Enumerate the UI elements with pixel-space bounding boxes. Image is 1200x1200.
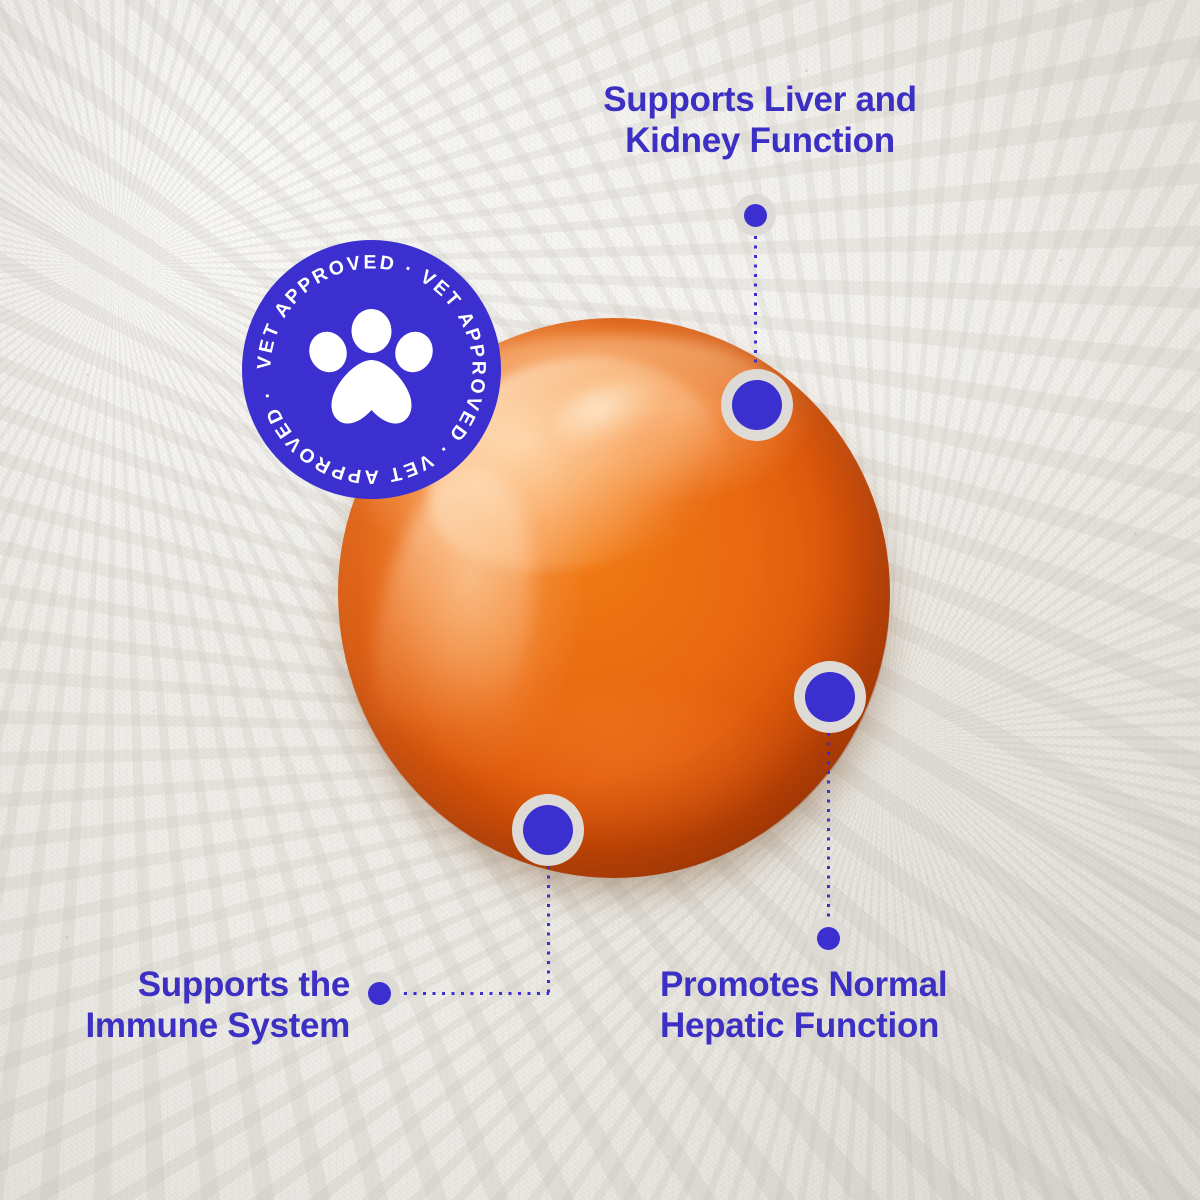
- marker-large-hepatic[interactable]: [794, 661, 866, 733]
- connector-line-immune-vertical: [547, 866, 550, 994]
- connector-line-hepatic: [827, 733, 830, 919]
- marker-small-immune[interactable]: [358, 972, 400, 1014]
- marker-small-liver-kidney[interactable]: [734, 194, 776, 236]
- connector-line-liver-kidney: [754, 236, 757, 371]
- callout-label-liver-kidney: Supports Liver and Kidney Function: [480, 80, 1040, 162]
- marker-small-hepatic[interactable]: [807, 917, 849, 959]
- marker-core: [805, 672, 855, 722]
- marker-large-immune[interactable]: [512, 794, 584, 866]
- marker-core: [744, 204, 767, 227]
- callout-label-hepatic: Promotes Normal Hepatic Function: [660, 965, 1180, 1047]
- paw-print-icon: [303, 308, 439, 424]
- marker-core: [732, 380, 782, 430]
- callout-label-immune: Supports the Immune System: [0, 965, 350, 1047]
- marker-core: [523, 805, 573, 855]
- marker-core: [368, 982, 391, 1005]
- marker-large-liver-kidney[interactable]: [721, 369, 793, 441]
- marker-core: [817, 927, 840, 950]
- vet-approved-badge: VET APPROVED · VET APPROVED · VET APPROV…: [242, 240, 501, 499]
- infographic-canvas: VET APPROVED · VET APPROVED · VET APPROV…: [0, 0, 1200, 1200]
- connector-line-immune-horizontal: [404, 992, 549, 995]
